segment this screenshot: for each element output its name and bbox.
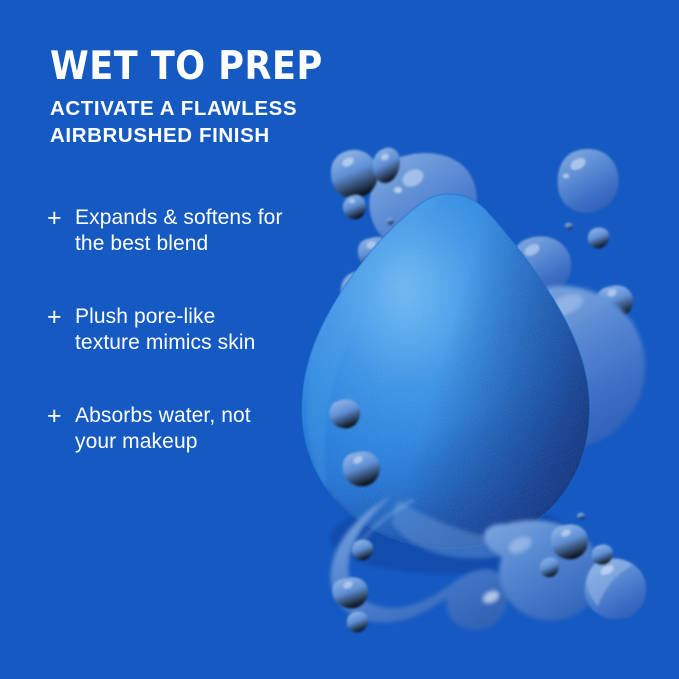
- list-item-line: your makeup: [75, 429, 251, 455]
- subtitle-line-1: ACTIVATE A FLAWLESS: [50, 96, 350, 122]
- list-item-line: Plush pore-like: [75, 304, 255, 330]
- page-title: WET TO PREP: [50, 46, 350, 87]
- list-item-text: Absorbs water, not your makeup: [75, 403, 251, 455]
- subtitle-line-2: AIRBRUSHED FINISH: [50, 123, 350, 149]
- list-item-text: Expands & softens for the best blend: [75, 205, 283, 257]
- list-item-line: texture mimics skin: [75, 330, 255, 356]
- plus-icon: +: [47, 403, 75, 429]
- plus-icon: +: [47, 205, 75, 231]
- water-droplet: [565, 223, 573, 229]
- water-droplet: [331, 150, 378, 198]
- list-item-line: Expands & softens for: [75, 205, 283, 231]
- product-infographic-canvas: WET TO PREP ACTIVATE A FLAWLESS AIRBRUSH…: [0, 0, 679, 679]
- list-item-text: Plush pore-like texture mimics skin: [75, 304, 255, 356]
- page-subtitle: ACTIVATE A FLAWLESS AIRBRUSHED FINISH: [50, 96, 350, 148]
- list-item: + Absorbs water, not your makeup: [47, 403, 347, 455]
- list-item: + Expands & softens for the best blend: [47, 205, 347, 257]
- water-droplet: [386, 218, 394, 225]
- water-droplet: [558, 149, 619, 213]
- plus-icon: +: [47, 304, 75, 330]
- list-item-line: Absorbs water, not: [75, 403, 251, 429]
- benefit-list: + Expands & softens for the best blend +…: [47, 205, 347, 455]
- list-item: + Plush pore-like texture mimics skin: [47, 304, 347, 356]
- headline-block: WET TO PREP ACTIVATE A FLAWLESS AIRBRUSH…: [50, 46, 350, 149]
- water-droplet: [577, 513, 585, 519]
- list-item-line: the best blend: [75, 231, 283, 257]
